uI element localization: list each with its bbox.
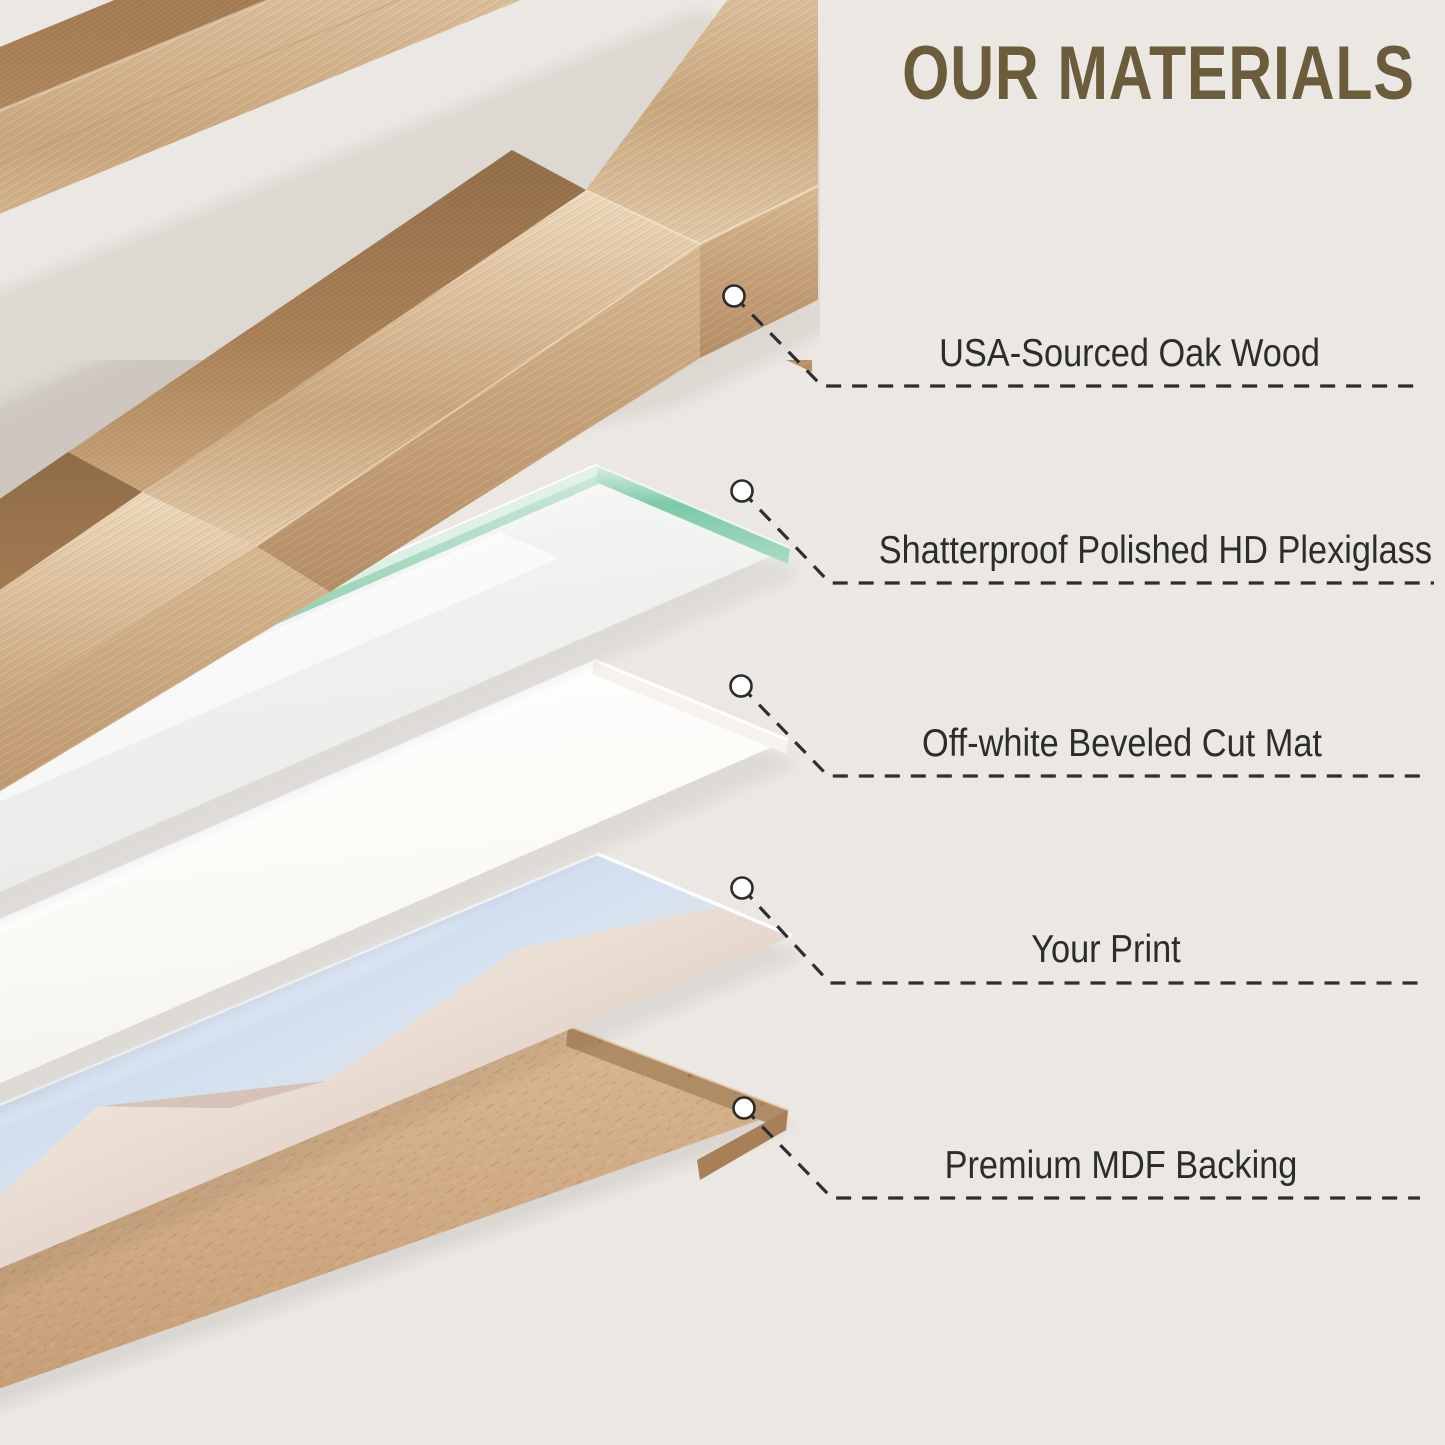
callout-label-mdf: Premium MDF Backing (135, 1146, 1445, 1185)
callout-label-print: Your Print (133, 930, 1445, 969)
callout-label-mat: Off-white Beveled Cut Mat (135, 724, 1445, 763)
callout-label-oak-wood: USA-Sourced Oak Wood (158, 334, 1320, 373)
infographic-canvas: OUR MATERIALS USA-Sourced Oak WoodShatte… (0, 0, 1445, 1445)
page-title: OUR MATERIALS (902, 36, 1415, 112)
exploded-frame-illustration (0, 0, 820, 1445)
callout-label-plexiglass: Shatterproof Polished HD Plexiglass (172, 531, 1432, 570)
